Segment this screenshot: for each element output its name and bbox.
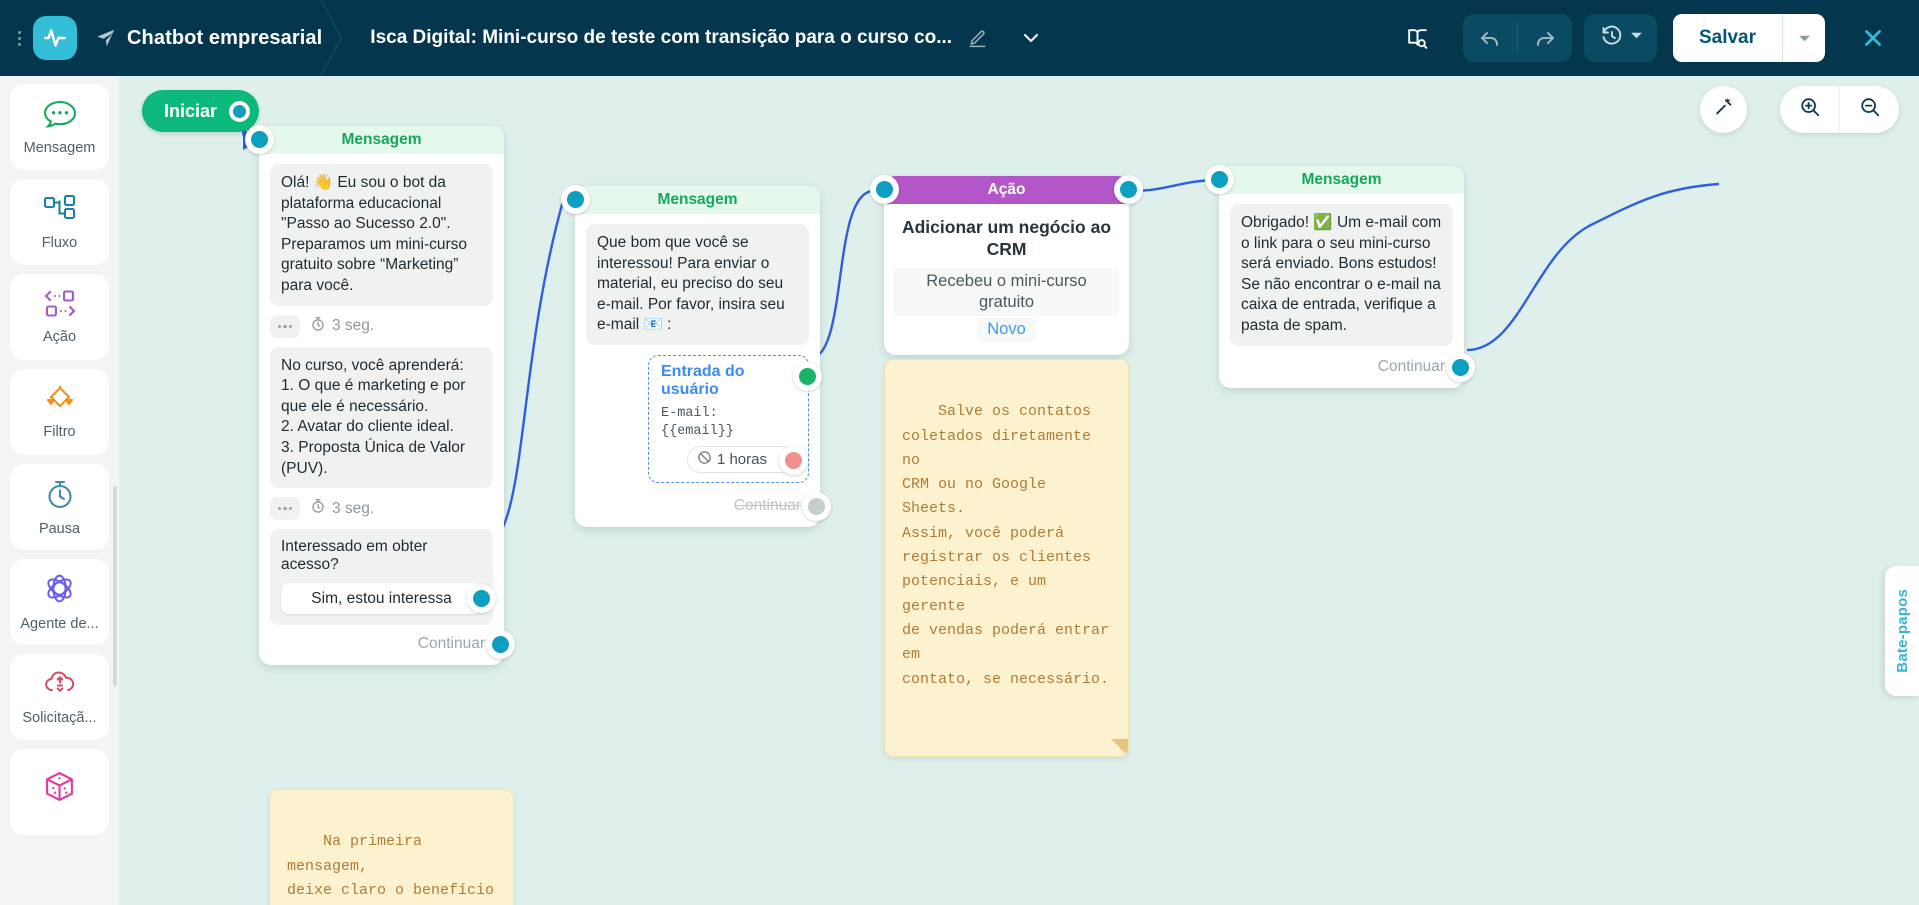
note-resize-handle[interactable] bbox=[1111, 739, 1128, 756]
node-input-port[interactable] bbox=[1205, 165, 1234, 194]
question-text: Interessado em obter acesso? bbox=[281, 538, 482, 574]
continue-label: Continuar bbox=[734, 497, 801, 515]
action-arrows-icon bbox=[42, 290, 78, 323]
sidebar-item-label: Agente de... bbox=[20, 616, 98, 632]
breadcrumb-flow: Isca Digital: Mini-curso de teste com tr… bbox=[348, 0, 1069, 76]
node-input-port[interactable] bbox=[561, 185, 590, 214]
left-sidebar: Mensagem Fluxo Ação bbox=[0, 76, 119, 905]
continue-output-port[interactable] bbox=[1446, 353, 1475, 382]
sidebar-item-solicitacao[interactable]: Solicitaçã... bbox=[10, 654, 109, 740]
user-input-output-port[interactable] bbox=[793, 362, 822, 391]
port-dot bbox=[1452, 359, 1469, 376]
delay-row: 3 seg. bbox=[270, 497, 493, 520]
sidebar-item-mensagem[interactable]: Mensagem bbox=[10, 84, 109, 170]
continue-row: Continuar bbox=[1230, 354, 1453, 380]
magic-wand-button[interactable] bbox=[1700, 86, 1747, 133]
sidebar-scrollbar[interactable] bbox=[113, 486, 117, 686]
sidebar-item-fluxo[interactable]: Fluxo bbox=[10, 179, 109, 265]
ai-atom-icon bbox=[43, 572, 76, 610]
timeout-label: 1 horas bbox=[717, 451, 767, 468]
history-clock-icon bbox=[1600, 24, 1624, 53]
user-input-title: Entrada do usuário bbox=[661, 363, 796, 399]
flow-canvas[interactable]: Iniciar Mensagem Olá! 👋 Eu sou o bot da … bbox=[119, 76, 1919, 905]
delay-label: 3 seg. bbox=[310, 498, 374, 519]
node-header: Mensagem bbox=[575, 186, 820, 214]
chevron-down-icon[interactable] bbox=[1019, 26, 1043, 50]
start-node[interactable]: Iniciar bbox=[142, 90, 259, 132]
continue-label: Continuar bbox=[418, 635, 485, 653]
action-status: Novo bbox=[977, 318, 1036, 341]
port-dot bbox=[251, 131, 268, 148]
chat-bubble-icon bbox=[42, 99, 78, 134]
pulse-logo-icon[interactable] bbox=[33, 16, 77, 60]
close-button[interactable] bbox=[1847, 12, 1899, 64]
continue-output-port[interactable] bbox=[486, 630, 515, 659]
sidebar-item-label: Pausa bbox=[39, 521, 80, 537]
message-bubble: Obrigado! ✅ Um e-mail com o link para o … bbox=[1230, 204, 1453, 346]
delay-label: 3 seg. bbox=[310, 316, 374, 337]
port-dot bbox=[785, 452, 802, 469]
user-input-block[interactable]: Entrada do usuário E-mail: {{email}} 1 h… bbox=[648, 355, 809, 483]
zoom-out-button[interactable] bbox=[1840, 86, 1899, 133]
cube-icon bbox=[43, 770, 76, 808]
undo-arrow-icon[interactable] bbox=[1463, 14, 1517, 62]
node-input-port[interactable] bbox=[245, 125, 274, 154]
port-dot bbox=[567, 191, 584, 208]
sidebar-item-acao[interactable]: Ação bbox=[10, 274, 109, 360]
note-text: Salve os contatos coletados diretamente … bbox=[902, 403, 1118, 687]
node-body: Obrigado! ✅ Um e-mail com o link para o … bbox=[1219, 194, 1464, 388]
node-mensagem-2[interactable]: Mensagem Que bom que você se interessou!… bbox=[575, 186, 820, 527]
cloud-request-icon bbox=[43, 669, 77, 704]
zoom-in-icon bbox=[1799, 96, 1821, 123]
preview-book-icon[interactable] bbox=[1395, 15, 1441, 61]
sidebar-item-label: Mensagem bbox=[24, 140, 96, 156]
top-bar-actions: Salvar bbox=[1395, 12, 1919, 64]
message-bubble: Olá! 👋 Eu sou o bot da plataforma educac… bbox=[270, 164, 493, 306]
save-group: Salvar bbox=[1673, 14, 1825, 62]
node-header: Ação bbox=[884, 176, 1129, 204]
node-output-port[interactable] bbox=[1114, 175, 1143, 204]
continue-label: Continuar bbox=[1378, 358, 1445, 376]
port-dot bbox=[1120, 181, 1137, 198]
breadcrumb-app-label: Chatbot empresarial bbox=[127, 27, 322, 50]
no-entry-icon bbox=[697, 450, 712, 469]
port-dot bbox=[799, 368, 816, 385]
caret-down-icon bbox=[1630, 29, 1643, 47]
node-input-port[interactable] bbox=[870, 175, 899, 204]
chats-side-tab[interactable]: Bate-papos bbox=[1885, 566, 1919, 696]
sidebar-item-label: Fluxo bbox=[42, 235, 77, 251]
node-body: Olá! 👋 Eu sou o bot da plataforma educac… bbox=[259, 154, 504, 665]
node-mensagem-3[interactable]: Mensagem Obrigado! ✅ Um e-mail com o lin… bbox=[1219, 166, 1464, 388]
zoom-in-button[interactable] bbox=[1780, 86, 1839, 133]
pencil-icon[interactable] bbox=[968, 29, 987, 48]
sidebar-item-label: Solicitaçã... bbox=[22, 710, 96, 726]
sidebar-item-filtro[interactable]: Filtro bbox=[10, 369, 109, 455]
port-dot bbox=[473, 590, 490, 607]
user-input-timeout[interactable]: 1 horas bbox=[687, 446, 796, 473]
history-button[interactable] bbox=[1584, 14, 1657, 62]
redo-arrow-icon[interactable] bbox=[1518, 14, 1572, 62]
top-bar: Chatbot empresarial Isca Digital: Mini-c… bbox=[0, 0, 1919, 76]
start-label: Iniciar bbox=[164, 101, 217, 122]
port-dot bbox=[1211, 171, 1228, 188]
page-title: Isca Digital: Mini-curso de teste com tr… bbox=[370, 27, 952, 49]
breadcrumb-app[interactable]: Chatbot empresarial bbox=[77, 0, 348, 76]
zoom-out-icon bbox=[1859, 96, 1881, 123]
flow-nodes-icon bbox=[43, 194, 77, 229]
stopwatch-icon bbox=[310, 316, 326, 337]
note-text: Na primeira mensagem, deixe claro o bene… bbox=[287, 833, 494, 905]
continue-output-port[interactable] bbox=[802, 492, 831, 521]
sidebar-item-label: Ação bbox=[43, 329, 76, 345]
node-header: Mensagem bbox=[1219, 166, 1464, 194]
continue-row: Continuar bbox=[270, 631, 493, 657]
question-block: Interessado em obter acesso? Sim, estou … bbox=[270, 529, 493, 625]
node-mensagem-1[interactable]: Mensagem Olá! 👋 Eu sou o bot da platafor… bbox=[259, 126, 504, 665]
save-button[interactable]: Salvar bbox=[1673, 14, 1782, 62]
stopwatch-icon bbox=[44, 478, 76, 515]
timeout-output-port[interactable] bbox=[779, 446, 808, 475]
message-bubble: Que bom que você se interessou! Para env… bbox=[586, 224, 809, 345]
undo-redo-group bbox=[1463, 14, 1572, 62]
sidebar-item-label: Filtro bbox=[43, 424, 75, 440]
answer-label: Sim, estou interessa bbox=[311, 590, 451, 608]
action-subtitle: Recebeu o mini-curso gratuito bbox=[894, 268, 1119, 316]
port-dot bbox=[808, 498, 825, 515]
send-plane-icon bbox=[95, 27, 117, 49]
breadcrumb-separator bbox=[319, 0, 349, 76]
answer-button[interactable]: Sim, estou interessa bbox=[281, 583, 482, 614]
sidebar-item-agente-de[interactable]: Agente de... bbox=[10, 559, 109, 645]
drag-handle-dots-icon[interactable] bbox=[8, 31, 30, 46]
sidebar-item-cube[interactable] bbox=[10, 749, 109, 835]
port-dot bbox=[876, 181, 893, 198]
stopwatch-icon bbox=[310, 498, 326, 519]
message-bubble: No curso, você aprenderá: 1. O que é mar… bbox=[270, 347, 493, 489]
save-options-caret-icon[interactable] bbox=[1783, 14, 1825, 62]
typing-dots-icon[interactable] bbox=[270, 315, 300, 338]
port-dot bbox=[492, 636, 509, 653]
filter-diamond-icon bbox=[42, 385, 78, 418]
note-crm[interactable]: Salve os contatos coletados diretamente … bbox=[884, 359, 1129, 757]
note-first-message[interactable]: Na primeira mensagem, deixe claro o bene… bbox=[269, 789, 514, 905]
sidebar-item-pausa[interactable]: Pausa bbox=[10, 464, 109, 550]
delay-row: 3 seg. bbox=[270, 315, 493, 338]
answer-output-port[interactable] bbox=[467, 584, 496, 613]
magic-wand-icon bbox=[1713, 96, 1735, 123]
zoom-controls bbox=[1780, 86, 1899, 133]
node-body: Que bom que você se interessou! Para env… bbox=[575, 214, 820, 527]
typing-dots-icon[interactable] bbox=[270, 497, 300, 520]
start-output-port[interactable] bbox=[229, 101, 250, 122]
continue-row: Continuar bbox=[586, 493, 809, 519]
user-input-field: E-mail: {{email}} bbox=[661, 403, 796, 439]
action-title: Adicionar um negócio ao CRM bbox=[884, 204, 1129, 268]
chats-tab-label: Bate-papos bbox=[1894, 589, 1911, 673]
node-header: Mensagem bbox=[259, 126, 504, 154]
node-acao-1[interactable]: Ação Adicionar um negócio ao CRM Recebeu… bbox=[884, 176, 1129, 355]
